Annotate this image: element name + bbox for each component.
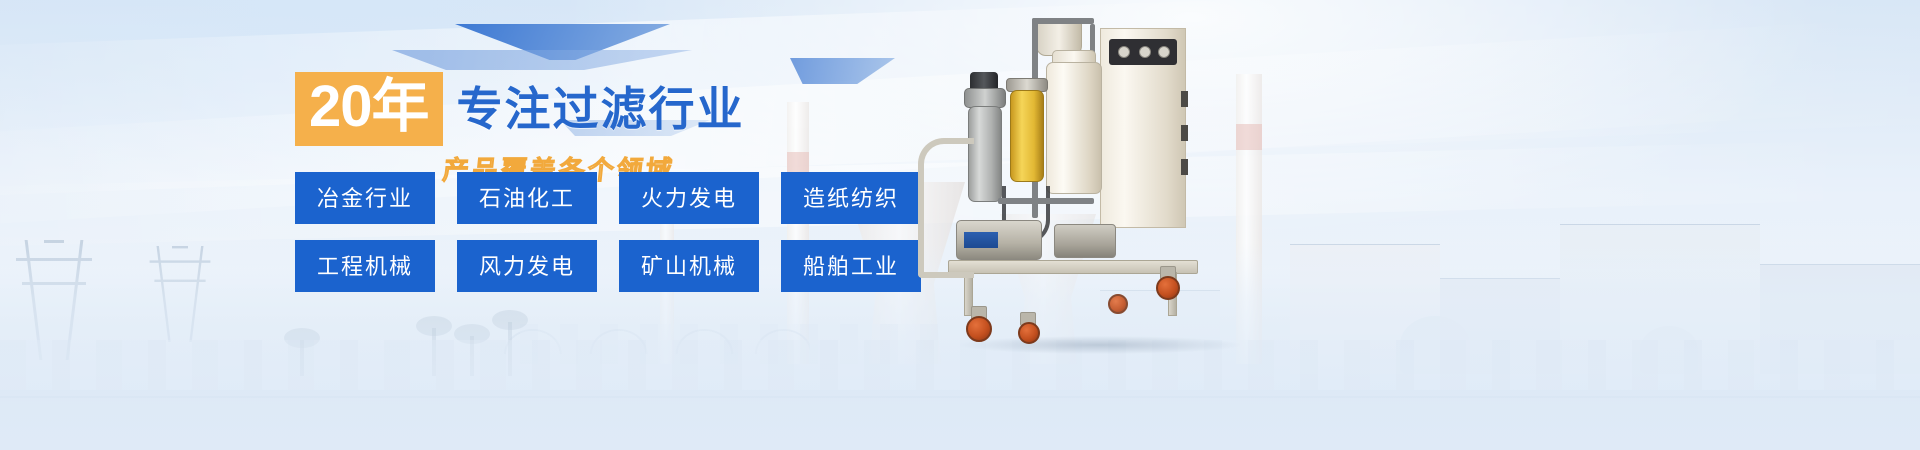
vent [1181, 125, 1188, 141]
tag-wind-power[interactable]: 风力发电 [457, 240, 597, 292]
tag-mining-machinery[interactable]: 矿山机械 [619, 240, 759, 292]
caster-wheel [1018, 322, 1040, 344]
filter-element-yellow [1010, 90, 1044, 182]
caster-wheel [966, 316, 992, 342]
pipe [1032, 18, 1094, 24]
headline-block: 20年 专注过滤行业 产品覆盖各个领域 [295, 72, 745, 187]
control-panel [1109, 39, 1177, 65]
industry-tag-grid: 冶金行业 石油化工 火力发电 造纸纺织 工程机械 风力发电 矿山机械 船舶工业 [295, 172, 921, 292]
product-shadow [960, 336, 1240, 354]
tag-construction-machinery[interactable]: 工程机械 [295, 240, 435, 292]
promo-banner: 20年 专注过滤行业 产品覆盖各个领域 冶金行业 石油化工 火力发电 造纸纺织 … [0, 0, 1920, 450]
dial-icon [1139, 46, 1151, 58]
tag-metallurgy[interactable]: 冶金行业 [295, 172, 435, 224]
tag-paper-textile[interactable]: 造纸纺织 [781, 172, 921, 224]
caster-wheel [1108, 294, 1128, 314]
caster-wheel [1156, 276, 1180, 300]
vent [1181, 159, 1188, 175]
vessel-cap [964, 88, 1006, 108]
tag-petrochemical[interactable]: 石油化工 [457, 172, 597, 224]
vent [1181, 91, 1188, 107]
headline-row: 20年 专注过滤行业 [295, 72, 745, 146]
product-image [940, 10, 1260, 350]
control-cabinet [1100, 28, 1186, 228]
pipe [998, 198, 1094, 204]
tag-shipbuilding[interactable]: 船舶工业 [781, 240, 921, 292]
tag-thermal-power[interactable]: 火力发电 [619, 172, 759, 224]
push-handle [918, 138, 974, 278]
page-title: 专注过滤行业 [457, 86, 745, 132]
dial-icon [1158, 46, 1170, 58]
pump-motor [1054, 224, 1116, 258]
filter-vessel-large [1046, 62, 1102, 194]
dial-icon [1118, 46, 1130, 58]
years-badge: 20年 [295, 72, 443, 146]
